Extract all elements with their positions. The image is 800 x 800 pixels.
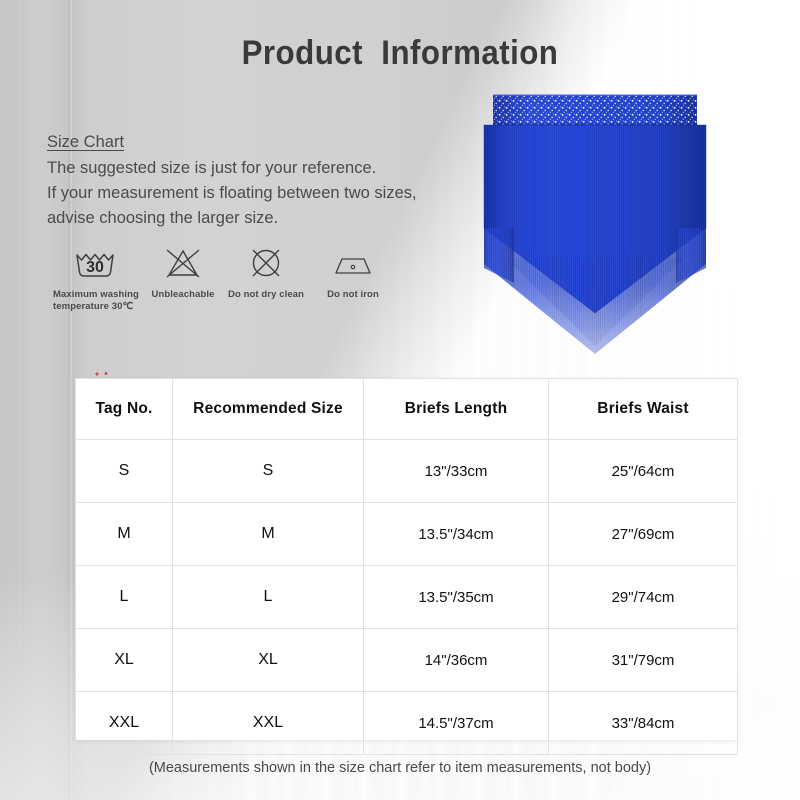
size-chart-line-2: If your measurement is floating between … bbox=[47, 181, 417, 206]
care-label-bleach: Unbleachable bbox=[152, 289, 215, 301]
care-label-iron: Do not iron bbox=[327, 289, 379, 301]
cell-tag-no: XL bbox=[76, 629, 173, 692]
care-label-dry-clean: Do not dry clean bbox=[228, 289, 304, 301]
measurements-footnote: (Measurements shown in the size chart re… bbox=[0, 760, 800, 776]
cell-briefs-length: 14"/36cm bbox=[364, 629, 549, 692]
do-not-bleach-icon bbox=[161, 243, 205, 283]
product-information-page: Product Information Size Chart The sugge… bbox=[0, 0, 800, 800]
size-table-card: Tag No. Recommended Size Briefs Length B… bbox=[75, 378, 737, 740]
table-row: XXL XXL 14.5"/37cm 33"/84cm bbox=[76, 692, 738, 755]
cell-tag-no: S bbox=[76, 440, 173, 503]
cell-recommended: S bbox=[173, 440, 364, 503]
cell-briefs-length: 13.5"/35cm bbox=[364, 566, 549, 629]
table-row: XL XL 14"/36cm 31"/79cm bbox=[76, 629, 738, 692]
care-label-wash: Maximum washing temperature 30℃ bbox=[53, 289, 143, 313]
column-header-briefs-length: Briefs Length bbox=[364, 379, 549, 440]
size-chart-note: Size Chart The suggested size is just fo… bbox=[47, 130, 417, 231]
column-header-tag-no: Tag No. bbox=[76, 379, 173, 440]
do-not-dry-clean-icon bbox=[244, 243, 288, 283]
care-instructions: 30 Maximum washing temperature 30℃ Unble… bbox=[52, 243, 396, 313]
size-chart-heading: Size Chart bbox=[47, 130, 417, 155]
column-header-briefs-waist: Briefs Waist bbox=[549, 379, 738, 440]
cell-tag-no: M bbox=[76, 503, 173, 566]
cell-briefs-waist: 33"/84cm bbox=[549, 692, 738, 755]
cell-briefs-length: 13"/33cm bbox=[364, 440, 549, 503]
table-header-row: Tag No. Recommended Size Briefs Length B… bbox=[76, 379, 738, 440]
cell-briefs-waist: 25"/64cm bbox=[549, 440, 738, 503]
cell-briefs-length: 14.5"/37cm bbox=[364, 692, 549, 755]
size-chart-line-1: The suggested size is just for your refe… bbox=[47, 156, 417, 181]
wash-tub-icon: 30 bbox=[74, 243, 122, 283]
table-row: S S 13"/33cm 25"/64cm bbox=[76, 440, 738, 503]
cell-briefs-waist: 31"/79cm bbox=[549, 629, 738, 692]
cell-tag-no: L bbox=[76, 566, 173, 629]
size-chart-line-3: advise choosing the larger size. bbox=[47, 206, 417, 231]
size-table: Tag No. Recommended Size Briefs Length B… bbox=[75, 378, 738, 755]
cell-recommended: XL bbox=[173, 629, 364, 692]
table-row: M M 13.5"/34cm 27"/69cm bbox=[76, 503, 738, 566]
do-not-iron-icon bbox=[329, 243, 377, 283]
page-title: Product Information bbox=[32, 34, 768, 73]
cell-tag-no: XXL bbox=[76, 692, 173, 755]
care-item-dry-clean: Do not dry clean bbox=[222, 243, 310, 301]
column-header-recommended-size: Recommended Size bbox=[173, 379, 364, 440]
red-speck-artifact bbox=[95, 372, 109, 376]
cell-briefs-waist: 29"/74cm bbox=[549, 566, 738, 629]
blue-fringe-skirt-photo bbox=[470, 78, 720, 363]
table-row: L L 13.5"/35cm 29"/74cm bbox=[76, 566, 738, 629]
care-item-bleach: Unbleachable bbox=[144, 243, 222, 301]
cell-recommended: M bbox=[173, 503, 364, 566]
cell-recommended: L bbox=[173, 566, 364, 629]
cell-recommended: XXL bbox=[173, 692, 364, 755]
cell-briefs-waist: 27"/69cm bbox=[549, 503, 738, 566]
cell-briefs-length: 13.5"/34cm bbox=[364, 503, 549, 566]
care-item-iron: Do not iron bbox=[310, 243, 396, 301]
care-item-wash: 30 Maximum washing temperature 30℃ bbox=[52, 243, 144, 313]
svg-text:30: 30 bbox=[86, 259, 104, 276]
